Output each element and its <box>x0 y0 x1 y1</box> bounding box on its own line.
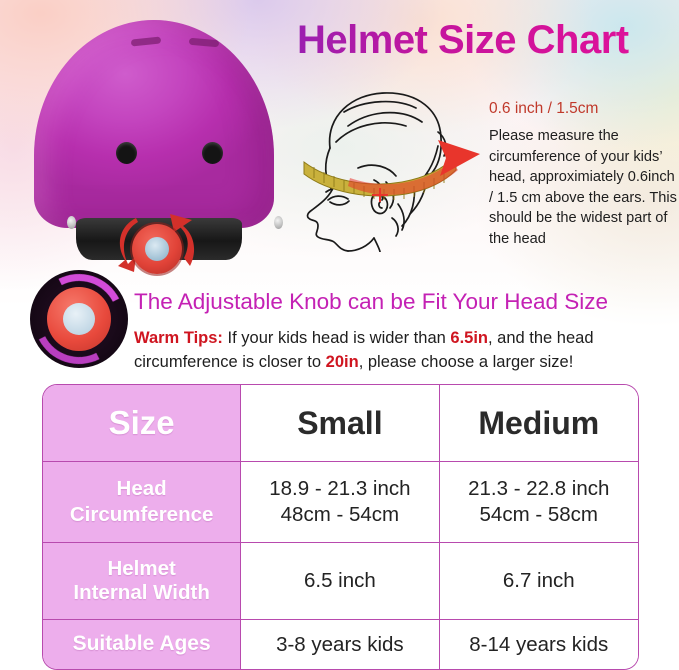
table-header-row: Size Small Medium <box>43 385 638 462</box>
adjustable-knob-icon <box>30 270 128 368</box>
cell-small-internal-width: 6.5 inch <box>241 543 439 620</box>
row-label-line2: Internal Width <box>44 581 239 605</box>
row-label-internal-width: Helmet Internal Width <box>43 543 241 620</box>
table-header-medium: Medium <box>440 385 638 462</box>
helmet-vent-icon <box>189 38 219 48</box>
cell-line1: 21.3 - 22.8 inch <box>441 476 637 502</box>
measure-headline: 0.6 inch / 1.5cm <box>489 100 677 118</box>
cell-line2: 54cm - 58cm <box>441 502 637 528</box>
cell-small-suitable-ages: 3-8 years kids <box>241 620 439 669</box>
warm-tips-value-circumference: 20in <box>326 353 359 371</box>
helmet-hole-icon <box>202 142 223 164</box>
helmet-adjust-knob <box>132 224 182 274</box>
table-row-suitable-ages: Suitable Ages 3-8 years kids 8-14 years … <box>43 620 638 669</box>
cell-line2: 48cm - 54cm <box>242 502 437 528</box>
row-label-suitable-ages: Suitable Ages <box>43 620 241 669</box>
helmet-hole-icon <box>116 142 137 164</box>
table-row-head-circumference: Head Circumference 18.9 - 21.3 inch 48cm… <box>43 462 638 543</box>
warm-tips-part1: If your kids head is wider than <box>223 329 450 347</box>
cell-medium-suitable-ages: 8-14 years kids <box>440 620 638 669</box>
cell-small-head-circumference: 18.9 - 21.3 inch 48cm - 54cm <box>241 462 439 543</box>
head-measurement-diagram <box>288 82 493 252</box>
helmet-vent-icon <box>131 36 162 46</box>
warm-tips-value-width: 6.5in <box>450 329 488 347</box>
row-label-line2: Circumference <box>44 502 239 528</box>
measure-instructions: Please measure the circumference of your… <box>489 126 679 249</box>
helmet-shell <box>34 20 274 228</box>
table-header-small: Small <box>241 385 439 462</box>
table-header-size: Size <box>43 385 241 462</box>
warm-tips: Warm Tips: If your kids head is wider th… <box>134 326 674 374</box>
warm-tips-part3: , please choose a larger size! <box>359 353 574 371</box>
row-label-line1: Helmet <box>44 557 239 581</box>
warm-tips-label: Warm Tips: <box>134 329 223 347</box>
cell-medium-internal-width: 6.7 inch <box>440 543 638 620</box>
knob-dial <box>47 287 111 351</box>
adjustable-knob-headline: The Adjustable Knob can be Fit Your Head… <box>134 289 674 315</box>
page-title: Helmet Size Chart <box>297 18 669 63</box>
helmet-illustration <box>14 12 294 262</box>
row-label-line1: Head <box>44 476 239 502</box>
row-label-head-circumference: Head Circumference <box>43 462 241 543</box>
table-row-internal-width: Helmet Internal Width 6.5 inch 6.7 inch <box>43 543 638 620</box>
size-chart-table: Size Small Medium Head Circumference 18.… <box>43 385 638 669</box>
helmet-rivet-icon <box>67 216 76 229</box>
helmet-rivet-icon <box>274 216 283 229</box>
cell-line1: 18.9 - 21.3 inch <box>242 476 437 502</box>
cell-medium-head-circumference: 21.3 - 22.8 inch 54cm - 58cm <box>440 462 638 543</box>
